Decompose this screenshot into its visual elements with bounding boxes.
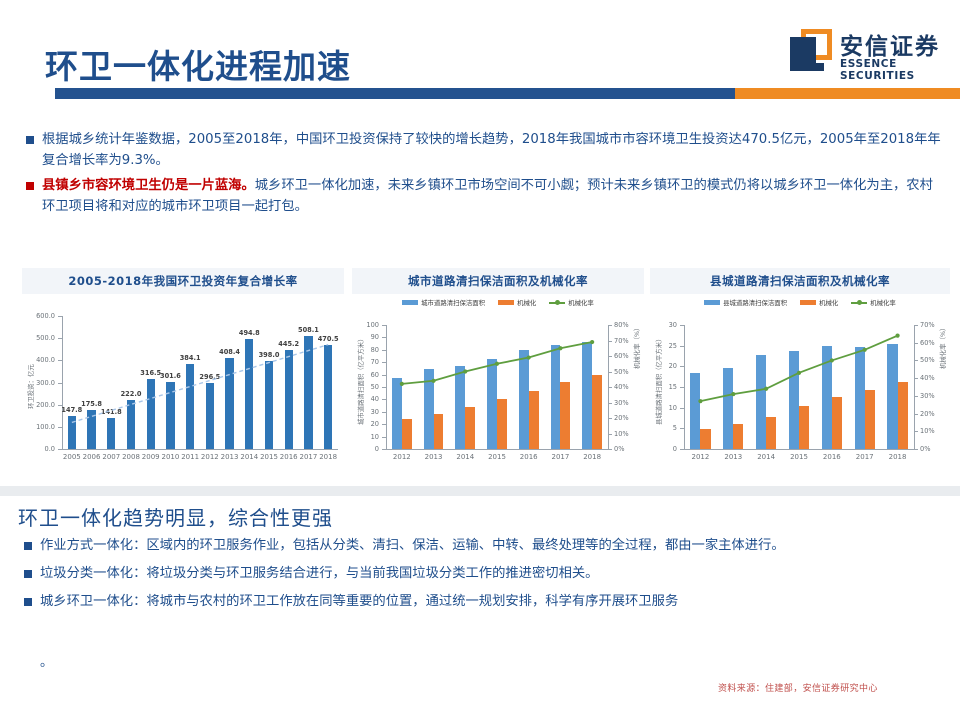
y-tick-label: 0 [352,445,379,453]
y-tick-label: 5 [650,424,677,432]
bullet-square-icon [24,570,32,578]
list-item: 作业方式一体化：区域内的环卫服务作业，包括从分类、清扫、保洁、运输、中转、最终处… [24,536,949,556]
bar-series-area [723,368,733,449]
rule-segment-blue [55,88,735,99]
legend-label: 机械化率 [870,298,896,307]
y-tick [58,427,62,428]
y2-tick-label: 20% [614,414,629,422]
bar [265,361,273,449]
x-tick-label: 2016 [280,453,298,461]
y2-tick-label: 70% [614,337,629,345]
y-axis-line [62,316,63,449]
bar-series-area [424,369,434,449]
bottom-section: 环卫一体化趋势明显，综合性更强 作业方式一体化：区域内的环卫服务作业，包括从分类… [0,496,960,686]
x-tick-label: 2010 [162,453,180,461]
legend-label: 县城道路清扫保洁面积 [723,298,787,307]
chart-investment-cagr: 2005-2018年我国环卫投资年复合增长率 0.0100.0200.0300.… [22,268,344,469]
bar-series-area [582,342,592,449]
x-tick-label: 2009 [142,453,160,461]
y2-tick-label: 40% [920,374,935,382]
bar [87,410,95,449]
list-item-text: 垃圾分类一体化：将垃圾分类与环卫服务结合进行，与当前我国垃圾分类工作的推进密切相… [40,564,598,584]
y2-tick-label: 0% [920,445,930,453]
x-tick-label: 2017 [552,453,570,461]
y2-tick [914,343,918,344]
chart-county-road-mechanization: 县城道路清扫保洁面积及机械化率 县城道路清扫保洁面积机械化机械化率 051015… [650,268,950,467]
y2-tick-label: 50% [614,368,629,376]
logo-text-cn: 安信证券 [840,27,940,61]
bar-value-label: 296.5 [199,373,220,381]
bar [245,339,253,449]
bar [127,400,135,449]
y-tick [382,325,386,326]
x-tick-label: 2012 [201,453,219,461]
bar [225,358,233,449]
y-tick [382,350,386,351]
bar-value-label: 470.5 [318,335,339,343]
y2-tick [608,418,612,419]
legend-item: 机械化率 [851,298,896,307]
x-tick-label: 2007 [102,453,120,461]
bar-series-area [455,366,465,449]
bar-series-mechanized [733,424,743,449]
y-tick [58,383,62,384]
x-axis-line [684,449,914,450]
y-tick [680,449,684,450]
chart-city-road-mechanization: 城市道路清扫保洁面积及机械化率 城市道路清扫保洁面积机械化机械化率 010203… [352,268,644,467]
list-item-text: 作业方式一体化：区域内的环卫服务作业，包括从分类、清扫、保洁、运输、中转、最终处… [40,536,785,556]
x-tick-label: 2013 [724,453,742,461]
x-tick-label: 2013 [221,453,239,461]
y2-tick [608,403,612,404]
y-tick [382,449,386,450]
y-tick-label: 30 [650,321,677,329]
legend-color-swatch [498,300,514,305]
bar-series-mechanized [832,397,842,449]
legend-label: 机械化 [517,298,536,307]
y-tick [382,337,386,338]
x-tick-label: 2016 [520,453,538,461]
bar [166,382,174,449]
y-tick [382,375,386,376]
y2-tick [608,387,612,388]
x-tick-label: 2013 [425,453,443,461]
section-heading: 环卫一体化趋势明显，综合性更强 [18,502,333,531]
y2-axis-title: 机械化率（%） [632,325,641,369]
chart-legend: 县城道路清扫保洁面积机械化机械化率 [650,298,950,307]
x-axis-line [62,449,338,450]
x-tick-label: 2006 [83,453,101,461]
bullet-item: 县镇乡市容环境卫生仍是一片蓝海。城乡环卫一体化加速，未来乡镇环卫市场空间不可小觑… [26,176,941,217]
y-tick [382,412,386,413]
bar-series-mechanized [898,382,908,449]
x-tick-label: 2008 [122,453,140,461]
y-tick-label: 500.0 [22,334,55,342]
x-tick-label: 2017 [856,453,874,461]
legend-item: 县城道路清扫保洁面积 [704,298,787,307]
bullet-square-icon [26,136,34,144]
logo-text-en: ESSENCE SECURITIES [840,58,955,82]
y-axis-line [386,325,387,449]
y-tick [680,408,684,409]
y2-tick [608,356,612,357]
legend-item: 城市道路清扫保洁面积 [402,298,485,307]
bar [206,383,214,449]
y-tick-label: 100 [352,321,379,329]
x-tick-label: 2014 [240,453,258,461]
bar-series-area [551,345,561,449]
bar-series-mechanized [497,399,507,449]
bar-series-mechanized [402,419,412,449]
slide-header: 环卫一体化进程加速 安信证券 ESSENCE SECURITIES [0,0,960,110]
y2-tick-label: 10% [920,427,935,435]
bottom-bullet-list: 作业方式一体化：区域内的环卫服务作业，包括从分类、清扫、保洁、运输、中转、最终处… [24,536,949,620]
y2-tick-label: 60% [614,352,629,360]
rule-segment-orange [735,88,960,99]
x-axis-line [386,449,608,450]
bar-series-area [392,378,402,449]
list-item: 垃圾分类一体化：将垃圾分类与环卫服务结合进行，与当前我国垃圾分类工作的推进密切相… [24,564,949,584]
y-tick [680,366,684,367]
x-tick-label: 2014 [456,453,474,461]
bullet-square-icon [26,182,34,190]
y2-tick [914,396,918,397]
y2-tick-label: 30% [920,392,935,400]
bar-value-label: 316.5 [140,369,161,377]
bar-series-area [887,344,897,449]
bar-series-mechanized [465,407,475,449]
y2-tick-label: 80% [614,321,629,329]
bar-value-label: 398.0 [259,351,280,359]
y2-tick-label: 60% [920,339,935,347]
bar-series-area [690,373,700,449]
company-logo: 安信证券 ESSENCE SECURITIES [790,26,955,78]
y2-tick-label: 20% [920,410,935,418]
y2-tick-label: 10% [614,430,629,438]
bar-value-label: 301.6 [160,372,181,380]
chart-title: 城市道路清扫保洁面积及机械化率 [352,268,644,294]
x-tick-label: 2011 [181,453,199,461]
bullet-highlight: 县镇乡市容环境卫生仍是一片蓝海。 [42,178,255,193]
y2-tick [608,372,612,373]
y-tick-label: 0 [650,445,677,453]
y2-tick [608,325,612,326]
bar-value-label: 445.2 [278,340,299,348]
x-tick-label: 2012 [393,453,411,461]
bar-series-mechanized [865,390,875,449]
logo-l-foot-shape [790,63,824,71]
bar-value-label: 175.8 [81,400,102,408]
bar [107,418,115,449]
y2-tick-label: 30% [614,399,629,407]
section-divider [0,486,960,496]
bullet-square-icon [24,598,32,606]
y-tick [58,316,62,317]
bar-value-label: 141.8 [101,408,122,416]
y-tick [680,387,684,388]
legend-color-swatch [402,300,418,305]
slide-root: 环卫一体化进程加速 安信证券 ESSENCE SECURITIES 根据城乡统计… [0,0,960,720]
y-tick [680,325,684,326]
y-tick [58,338,62,339]
x-tick-label: 2012 [692,453,710,461]
bar [68,416,76,449]
y-tick-label: 0.0 [22,445,55,453]
bar-value-label: 222.0 [121,390,142,398]
bar-series-area [519,350,529,449]
y-tick [382,424,386,425]
y-axis-title: 县城道路清扫面积（亿平方米） [654,336,663,425]
chart-legend: 城市道路清扫保洁面积机械化机械化率 [352,298,644,307]
legend-item: 机械化 [498,298,536,307]
x-tick-label: 2017 [300,453,318,461]
bar-value-label: 384.1 [180,354,201,362]
x-tick-label: 2005 [63,453,81,461]
y2-axis-title: 机械化率（%） [938,325,947,369]
y-tick [382,362,386,363]
trailing-punctuation: 。 [40,651,53,670]
chart-title: 2005-2018年我国环卫投资年复合增长率 [22,268,344,294]
y2-tick [914,431,918,432]
bar-series-area [756,355,766,449]
y-tick [680,428,684,429]
legend-item: 机械化率 [549,298,594,307]
x-tick-label: 2014 [757,453,775,461]
bar-series-mechanized [592,375,602,449]
bar [285,350,293,449]
list-item-text: 城乡环卫一体化：将城市与农村的环卫工作放在同等重要的位置，通过统一规划安排，科学… [40,592,678,612]
logo-mark-icon [790,29,832,71]
y-tick [680,346,684,347]
legend-color-swatch [800,300,816,305]
bar [324,345,332,449]
bullet-item: 根据城乡统计年鉴数据，2005至2018年，中国环卫投资保持了较快的增长趋势，2… [26,130,941,171]
bar-series-area [487,359,497,449]
y-tick-label: 100.0 [22,423,55,431]
bullet-text: 县镇乡市容环境卫生仍是一片蓝海。城乡环卫一体化加速，未来乡镇环卫市场空间不可小觑… [42,176,941,217]
bar [304,336,312,449]
y2-tick [914,325,918,326]
y2-tick [608,434,612,435]
legend-label: 机械化 [819,298,838,307]
y-axis-line [684,325,685,449]
bar-value-label: 508.1 [298,326,319,334]
x-tick-label: 2015 [260,453,278,461]
x-tick-label: 2016 [823,453,841,461]
bar-series-mechanized [434,414,444,449]
bar-series-mechanized [529,391,539,449]
y-tick [58,360,62,361]
legend-line-swatch [549,302,565,304]
bar [147,379,155,449]
y-axis-title: 环卫投资：亿元 [26,364,35,409]
legend-label: 城市道路清扫保洁面积 [421,298,485,307]
chart-title: 县城道路清扫保洁面积及机械化率 [650,268,950,294]
y2-tick-label: 0% [614,445,624,453]
legend-item: 机械化 [800,298,838,307]
bar-series-mechanized [766,417,776,449]
bar-series-mechanized [799,406,809,449]
legend-label: 机械化率 [568,298,594,307]
bar-series-mechanized [700,429,710,449]
y2-tick [914,449,918,450]
x-tick-label: 2018 [583,453,601,461]
x-tick-label: 2015 [488,453,506,461]
y-tick [382,437,386,438]
bar-value-label: 147.8 [61,406,82,414]
bar-series-area [822,346,832,449]
y-tick-label: 600.0 [22,312,55,320]
bullet-text: 根据城乡统计年鉴数据，2005至2018年，中国环卫投资保持了较快的增长趋势，2… [42,130,941,171]
legend-line-swatch [851,302,867,304]
y-tick [382,399,386,400]
bar-series-mechanized [560,382,570,449]
x-tick-label: 2015 [790,453,808,461]
y-tick [58,449,62,450]
chart-plot-area: 0510152025300%10%20%30%40%50%60%70%20122… [650,317,950,467]
source-note: 资料来源：住建部，安信证券研究中心 [718,681,878,694]
y-axis-title: 城市道路清扫面积（亿平方米） [356,336,365,425]
y2-tick-label: 50% [920,356,935,364]
chart-plot-area: 01020304050607080901000%10%20%30%40%50%6… [352,317,644,467]
y2-tick-label: 70% [920,321,935,329]
top-bullet-list: 根据城乡统计年鉴数据，2005至2018年，中国环卫投资保持了较快的增长趋势，2… [26,130,941,222]
charts-row: 2005-2018年我国环卫投资年复合增长率 0.0100.0200.0300.… [0,268,960,483]
y2-tick-label: 40% [614,383,629,391]
chart-plot-area: 0.0100.0200.0300.0400.0500.0600.0147.820… [22,304,344,469]
page-title: 环卫一体化进程加速 [45,40,351,88]
bar [186,364,194,449]
y-tick-label: 10 [352,433,379,441]
title-underline-rule [55,88,960,99]
legend-color-swatch [704,300,720,305]
bar-series-area [789,351,799,449]
x-tick-label: 2018 [319,453,337,461]
bar-series-area [855,347,865,449]
y2-tick [914,414,918,415]
x-tick-label: 2018 [889,453,907,461]
bullet-square-icon [24,542,32,550]
y2-tick [914,378,918,379]
bar-value-label: 408.4 [219,348,240,356]
list-item: 城乡环卫一体化：将城市与农村的环卫工作放在同等重要的位置，通过统一规划安排，科学… [24,592,949,612]
y-tick [382,387,386,388]
y2-tick [608,341,612,342]
bar-value-label: 494.8 [239,329,260,337]
y2-tick [914,360,918,361]
y2-tick [608,449,612,450]
